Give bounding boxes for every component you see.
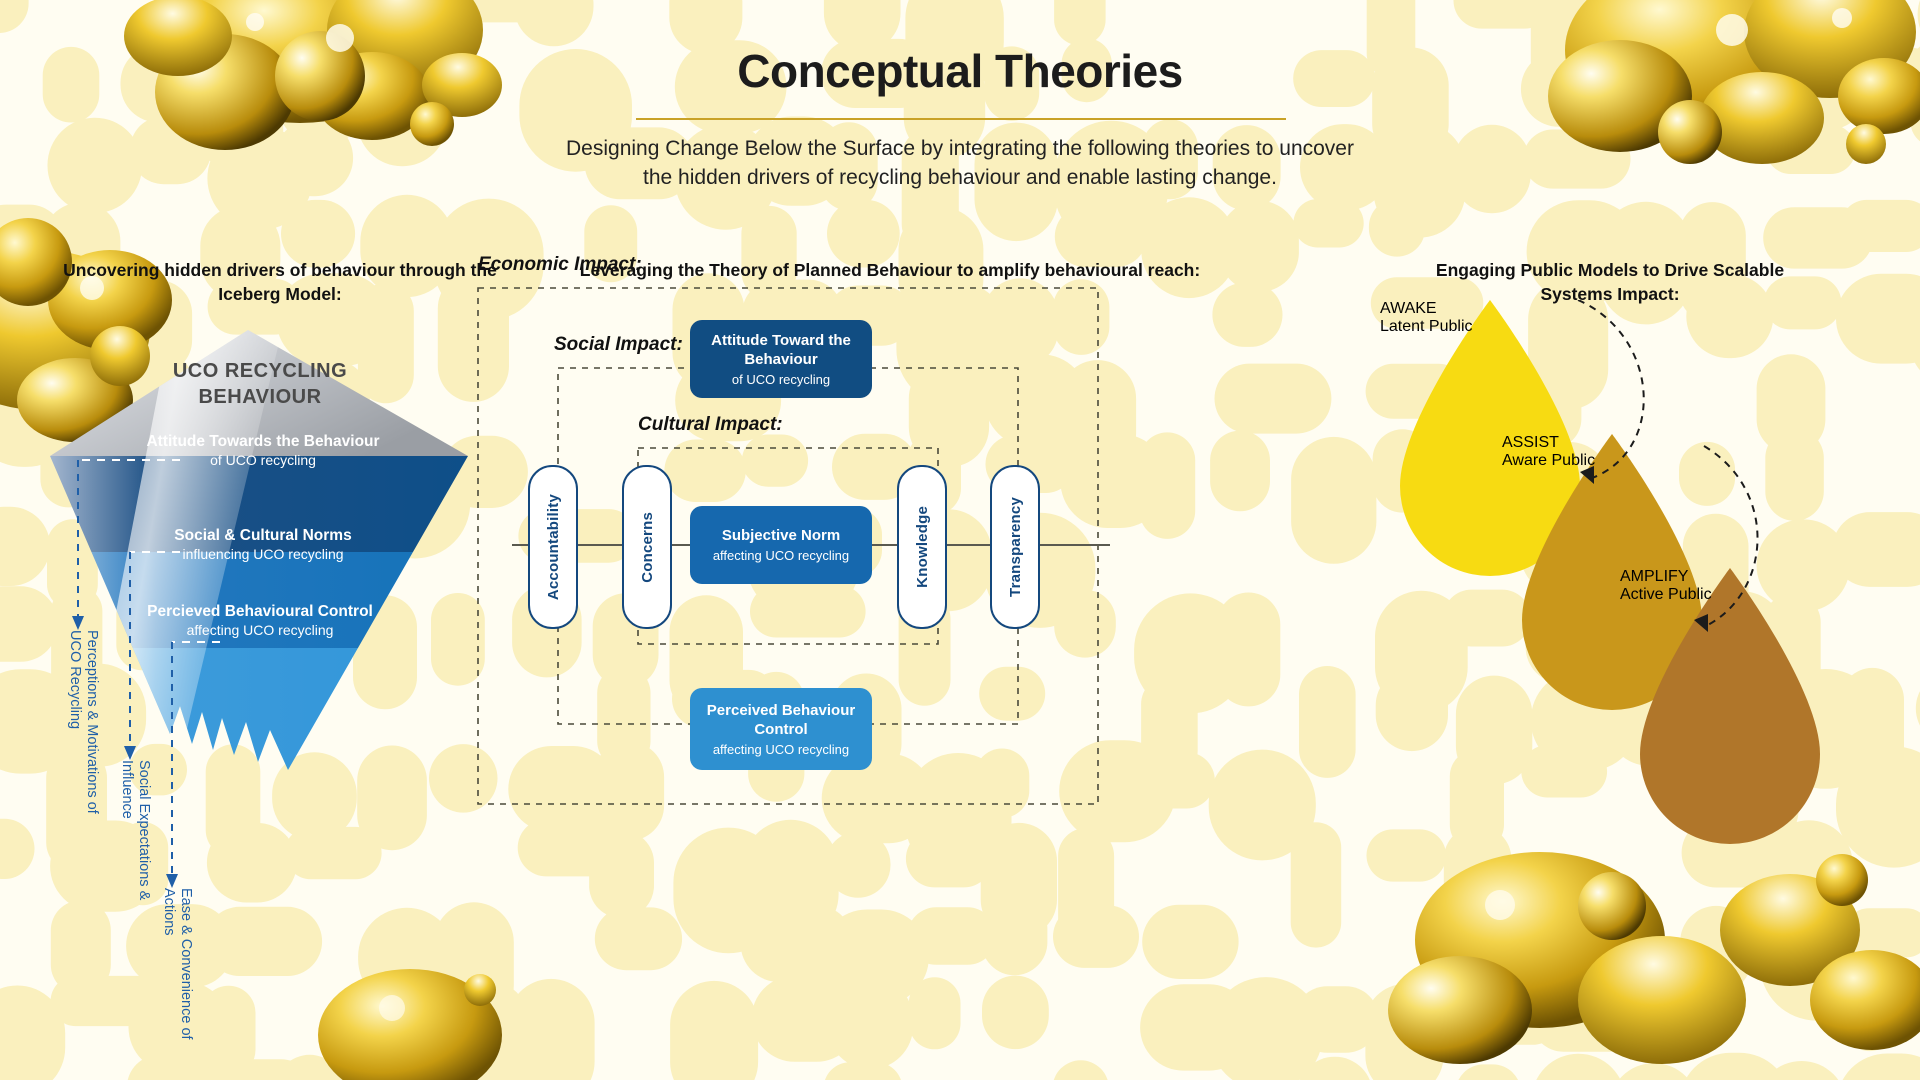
assist-subtitle: Aware Public — [1502, 452, 1722, 470]
assist-title: ASSIST — [1502, 434, 1722, 452]
tpb-box-perceived-control-subtitle: affecting UCO recycling — [713, 741, 849, 758]
amplify-subtitle: Active Public — [1620, 586, 1840, 604]
tpb-pill-accountability[interactable]: Accountability — [528, 465, 578, 629]
tpb-pill-knowledge-label: Knowledge — [914, 506, 931, 588]
iceberg-side-label-2: Social Expectations & Influence — [118, 760, 152, 940]
tpb-box-subjective-norm-title: Subjective Norm — [722, 526, 840, 545]
title-divider — [636, 118, 1286, 120]
cultural-impact-label: Cultural Impact: — [638, 414, 783, 436]
iceberg-side-label-3: Ease & Convenience of Actions — [160, 888, 194, 1048]
amplify-title: AMPLIFY — [1620, 568, 1840, 586]
tpb-box-attitude[interactable]: Attitude Toward the Behaviour of UCO rec… — [690, 320, 872, 398]
tpb-pill-transparency-label: Transparency — [1007, 497, 1024, 597]
tpb-box-subjective-norm[interactable]: Subjective Norm affecting UCO recycling — [690, 506, 872, 584]
right-column-heading: Engaging Public Models to Drive Scalable… — [1400, 258, 1820, 306]
economic-impact-label: Economic Impact: — [478, 254, 642, 276]
public-models-diagram: AWAKE Latent Public ASSIST Aware Public … — [1380, 300, 1900, 1000]
social-impact-label: Social Impact: — [554, 334, 683, 356]
tpb-box-perceived-control[interactable]: Perceived Behaviour Control affecting UC… — [690, 688, 872, 770]
amplify-droplet[interactable]: AMPLIFY Active Public — [1620, 568, 1840, 848]
tpb-box-perceived-control-title: Perceived Behaviour Control — [690, 701, 872, 739]
iceberg-model: UCO RECYCLING BEHAVIOUR Attitude Towards… — [20, 330, 540, 970]
tpb-box-attitude-title: Attitude Toward the Behaviour — [690, 331, 872, 369]
tpb-pill-transparency[interactable]: Transparency — [990, 465, 1040, 629]
awake-title: AWAKE — [1380, 300, 1600, 318]
tpb-pill-knowledge[interactable]: Knowledge — [897, 465, 947, 629]
awake-subtitle: Latent Public — [1380, 318, 1600, 336]
tpb-box-attitude-subtitle: of UCO recycling — [732, 371, 830, 388]
tpb-pill-concerns-label: Concerns — [639, 512, 656, 583]
page-subtitle: Designing Change Below the Surface by in… — [560, 134, 1360, 192]
tpb-pill-accountability-label: Accountability — [545, 494, 562, 600]
left-column-heading: Uncovering hidden drivers of behaviour t… — [50, 258, 510, 306]
tpb-box-subjective-norm-subtitle: affecting UCO recycling — [713, 547, 849, 564]
page-title: Conceptual Theories — [0, 44, 1920, 98]
iceberg-side-label-1: Perceptions & Motivations of UCO Recycli… — [66, 630, 100, 830]
tpb-pill-concerns[interactable]: Concerns — [622, 465, 672, 629]
theory-of-planned-behaviour-diagram: Economic Impact: Social Impact: Cultural… — [470, 240, 1150, 940]
